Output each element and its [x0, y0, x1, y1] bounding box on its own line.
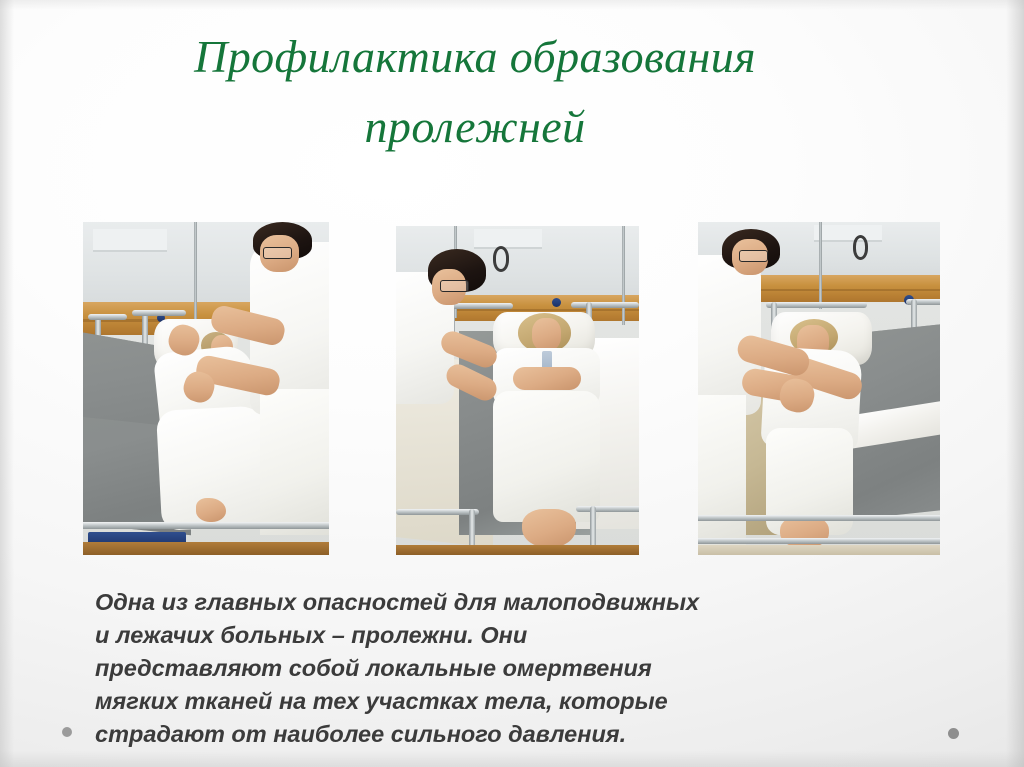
patient-foot — [196, 498, 226, 521]
floor — [698, 545, 940, 555]
nurse-trousers — [260, 389, 329, 536]
slide-title: Профилактика образования пролежней — [60, 22, 890, 162]
photo-patient-turned-step-3 — [698, 222, 940, 555]
wall-outlet — [552, 298, 561, 307]
floor — [396, 545, 639, 555]
bed-siderail-bottom — [83, 522, 329, 529]
presentation-slide: Профилактика образования пролежней — [0, 0, 1024, 767]
ceiling-vent — [93, 229, 167, 252]
trapeze-handle — [493, 246, 509, 272]
ceiling-vent — [814, 225, 882, 242]
nurse-glasses — [739, 250, 768, 262]
patient-trousers — [493, 391, 600, 523]
bed-siderail-bottom-right — [576, 506, 639, 512]
patient-hands — [513, 367, 581, 390]
bed-siderail-bottom-2 — [698, 538, 940, 544]
iv-pole-right — [622, 226, 625, 325]
hospital-room-scene — [698, 222, 940, 555]
nurse-glasses — [440, 280, 469, 292]
bed-headrail-bar-mid — [132, 310, 186, 316]
slide-body-text: Одна из главных опасностей для малоподви… — [95, 586, 855, 751]
bed-headrail-bar-right — [571, 302, 639, 308]
hospital-room-scene — [396, 226, 639, 555]
bed-headrail-bar-left — [88, 314, 127, 320]
iv-pole — [194, 222, 197, 329]
iv-pole — [819, 222, 822, 309]
ceiling-vent — [474, 229, 542, 249]
nurse-trousers — [698, 395, 746, 548]
bed-siderail-bottom — [698, 515, 940, 521]
floor — [83, 542, 329, 555]
decorative-dot-left — [62, 727, 72, 737]
bed-headrail-bar-left — [766, 302, 868, 308]
photo-patient-turning-step-1 — [83, 222, 329, 555]
nurse-glasses — [263, 247, 293, 259]
decorative-dot-right — [948, 728, 959, 739]
hospital-room-scene — [83, 222, 329, 555]
patient-feet — [522, 509, 575, 548]
bed-siderail-bottom-left — [396, 509, 479, 515]
trapeze-handle — [853, 235, 868, 260]
patient-face — [532, 318, 561, 351]
photo-patient-supine-step-2 — [396, 226, 639, 555]
